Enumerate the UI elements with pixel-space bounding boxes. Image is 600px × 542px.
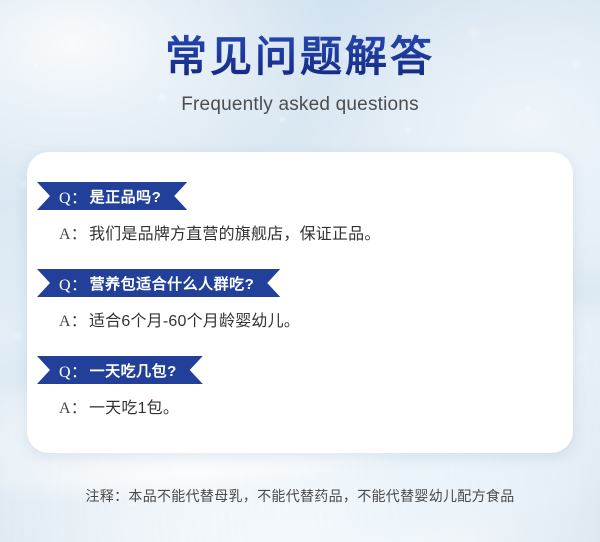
question-prefix: Q： bbox=[59, 358, 88, 382]
question-prefix: Q： bbox=[59, 271, 88, 295]
answer-prefix: A： bbox=[59, 400, 87, 417]
answer-line: A：一天吃1包。 bbox=[59, 394, 559, 418]
faq-page: 常见问题解答 Frequently asked questions Q： 是正品… bbox=[0, 0, 600, 542]
footer-disclaimer: 注释：本品不能代替母乳，不能代替药品，不能代替婴幼儿配方食品 bbox=[0, 486, 600, 506]
question-badge[interactable]: Q： 是正品吗? bbox=[37, 182, 187, 210]
faq-item: Q： 一天吃几包? A：一天吃1包。 bbox=[37, 356, 559, 418]
faq-item: Q： 营养包适合什么人群吃? A：适合6个月-60个月龄婴幼儿。 bbox=[37, 269, 559, 331]
question-text: 营养包适合什么人群吃? bbox=[90, 273, 255, 294]
answer-line: A：适合6个月-60个月龄婴幼儿。 bbox=[59, 307, 559, 331]
answer-prefix: A： bbox=[59, 313, 87, 330]
faq-list: Q： 是正品吗? A：我们是品牌方直营的旗舰店，保证正品。 Q： 营养包适合什么… bbox=[37, 182, 559, 418]
page-title: 常见问题解答 bbox=[0, 0, 600, 80]
page-header: 常见问题解答 Frequently asked questions bbox=[0, 0, 600, 116]
question-text: 一天吃几包? bbox=[90, 360, 177, 381]
question-text: 是正品吗? bbox=[90, 186, 162, 207]
answer-text: 我们是品牌方直营的旗舰店，保证正品。 bbox=[89, 226, 381, 243]
faq-card: Q： 是正品吗? A：我们是品牌方直营的旗舰店，保证正品。 Q： 营养包适合什么… bbox=[27, 152, 573, 453]
faq-item: Q： 是正品吗? A：我们是品牌方直营的旗舰店，保证正品。 bbox=[37, 182, 559, 244]
answer-text: 一天吃1包。 bbox=[89, 400, 179, 417]
answer-text: 适合6个月-60个月龄婴幼儿。 bbox=[89, 313, 300, 330]
answer-line: A：我们是品牌方直营的旗舰店，保证正品。 bbox=[59, 220, 559, 244]
answer-prefix: A： bbox=[59, 226, 87, 243]
question-prefix: Q： bbox=[59, 184, 88, 208]
question-badge[interactable]: Q： 营养包适合什么人群吃? bbox=[37, 269, 280, 297]
page-subtitle: Frequently asked questions bbox=[0, 94, 600, 116]
question-badge[interactable]: Q： 一天吃几包? bbox=[37, 356, 203, 384]
